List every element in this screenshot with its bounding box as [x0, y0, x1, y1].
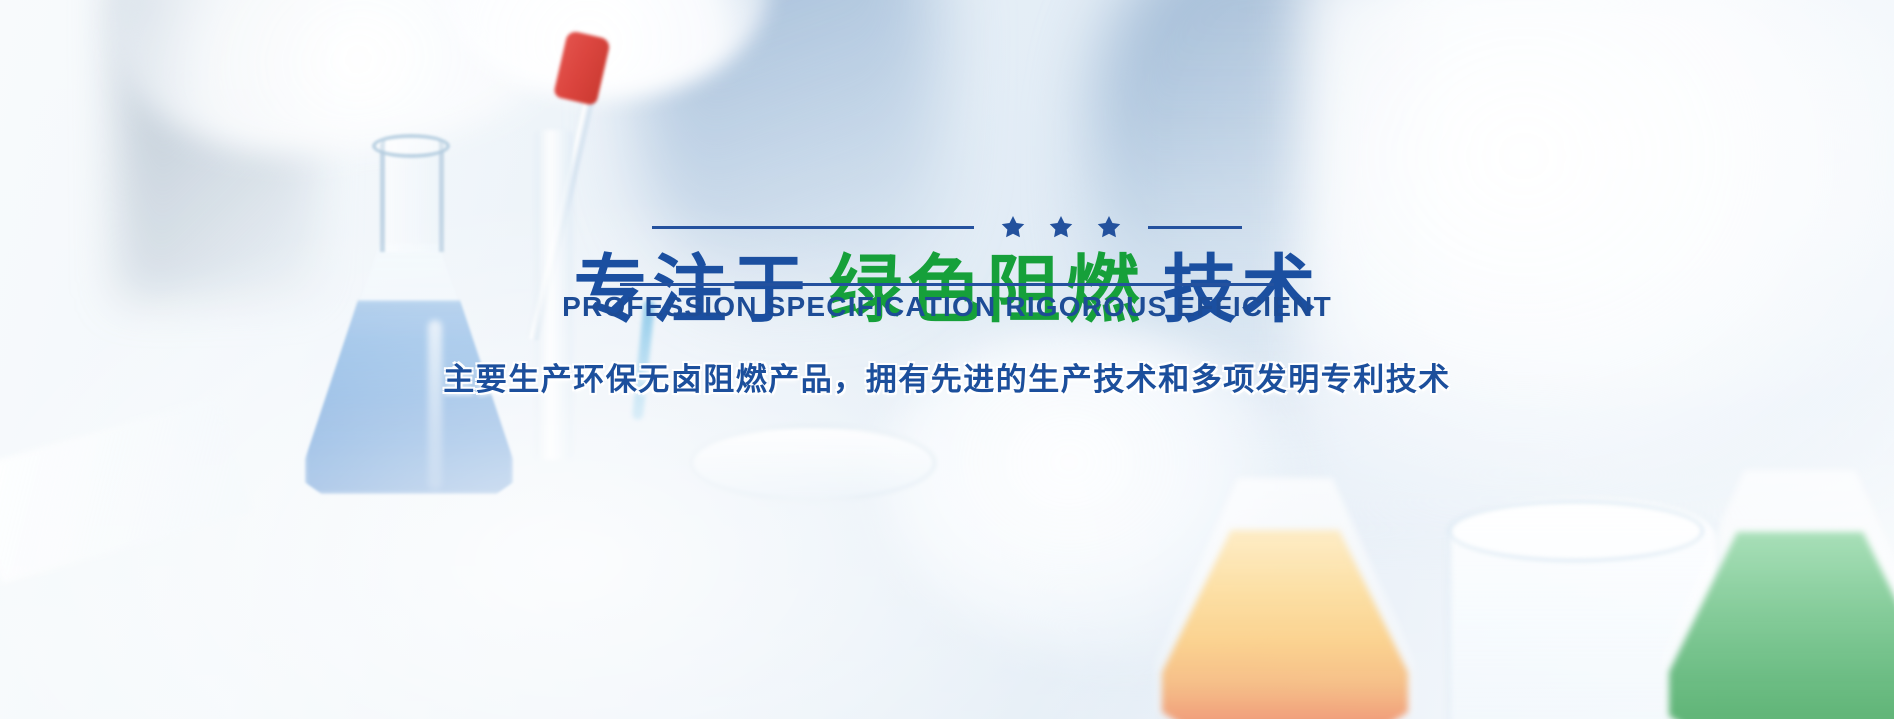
star-icon: [1000, 214, 1026, 240]
tagline-chinese: 主要生产环保无卤阻燃产品，拥有先进的生产技术和多项发明专利技术: [0, 358, 1894, 402]
decorative-line-under-title: [620, 283, 1274, 286]
decorative-line-left: [652, 226, 974, 229]
subtitle-english: PROFESSION SPECIFICATION RIGOROUS EFFICI…: [0, 290, 1894, 324]
decorative-rule-row: [0, 214, 1894, 240]
star-group: [1000, 214, 1122, 240]
star-icon: [1096, 214, 1122, 240]
decorative-line-right: [1148, 226, 1242, 229]
hero-banner: 专注于绿色阻燃技术 PROFESSION SPECIFICATION RIGOR…: [0, 0, 1894, 719]
banner-content: 专注于绿色阻燃技术 PROFESSION SPECIFICATION RIGOR…: [0, 0, 1894, 719]
star-icon: [1048, 214, 1074, 240]
